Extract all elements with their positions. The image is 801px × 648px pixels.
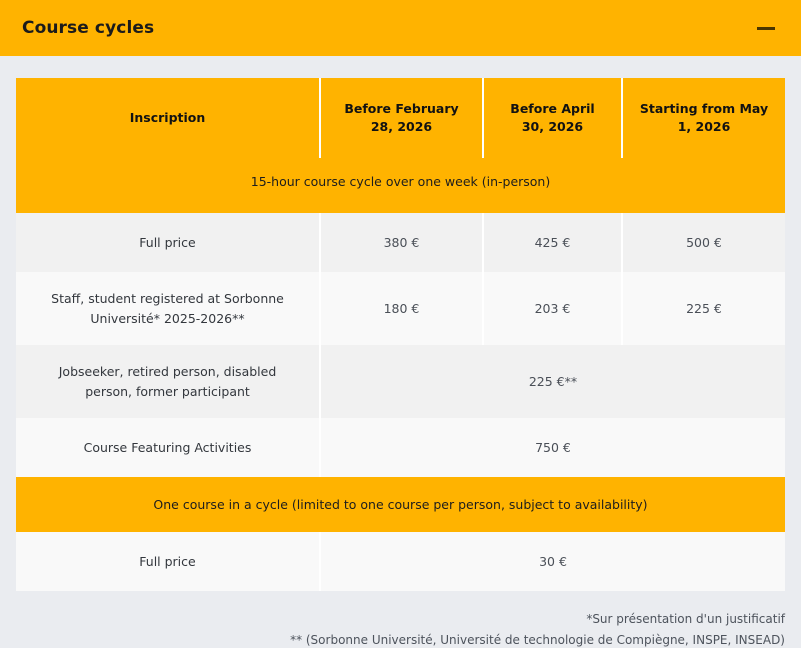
column-header-from-may: Starting from May 1, 2026 <box>622 78 785 158</box>
price-cell: 225 € <box>622 272 785 345</box>
table-row: Full price 380 € 425 € 500 € <box>16 213 785 272</box>
column-header-before-feb: Before February 28, 2026 <box>320 78 483 158</box>
column-header-before-apr: Before April 30, 2026 <box>483 78 622 158</box>
section-caption-row-2: One course in a cycle (limited to one co… <box>16 477 785 532</box>
table-row: Staff, student registered at Sorbonne Un… <box>16 272 785 345</box>
section-caption-1: 15-hour course cycle over one week (in-p… <box>16 158 785 213</box>
row-label: Full price <box>16 213 320 272</box>
price-cell: 380 € <box>320 213 483 272</box>
footnote-line-2: ** (Sorbonne Université, Université de t… <box>16 630 785 648</box>
row-label: Jobseeker, retired person, disabled pers… <box>16 345 320 418</box>
panel-header[interactable]: Course cycles <box>0 0 801 56</box>
page-title: Course cycles <box>22 18 154 38</box>
row-label: Course Featuring Activities <box>16 418 320 477</box>
pricing-table-container: Inscription Before February 28, 2026 Bef… <box>16 78 785 591</box>
table-row: Jobseeker, retired person, disabled pers… <box>16 345 785 418</box>
price-cell-merged: 225 €** <box>320 345 785 418</box>
minus-icon-bar <box>757 27 775 30</box>
minus-icon[interactable] <box>753 15 779 41</box>
footnote-line-1: *Sur présentation d'un justificatif <box>16 609 785 630</box>
column-header-inscription: Inscription <box>16 78 320 158</box>
price-cell: 180 € <box>320 272 483 345</box>
price-cell: 203 € <box>483 272 622 345</box>
section-caption-row-1: 15-hour course cycle over one week (in-p… <box>16 158 785 213</box>
price-cell: 425 € <box>483 213 622 272</box>
row-label: Full price <box>16 532 320 591</box>
price-cell-merged: 30 € <box>320 532 785 591</box>
section-caption-2: One course in a cycle (limited to one co… <box>16 477 785 532</box>
row-label: Staff, student registered at Sorbonne Un… <box>16 272 320 345</box>
table-header-row: Inscription Before February 28, 2026 Bef… <box>16 78 785 158</box>
price-cell-merged: 750 € <box>320 418 785 477</box>
price-cell: 500 € <box>622 213 785 272</box>
pricing-table: Inscription Before February 28, 2026 Bef… <box>16 78 785 591</box>
table-row: Course Featuring Activities 750 € <box>16 418 785 477</box>
table-row: Full price 30 € <box>16 532 785 591</box>
footnotes: *Sur présentation d'un justificatif ** (… <box>16 609 785 648</box>
